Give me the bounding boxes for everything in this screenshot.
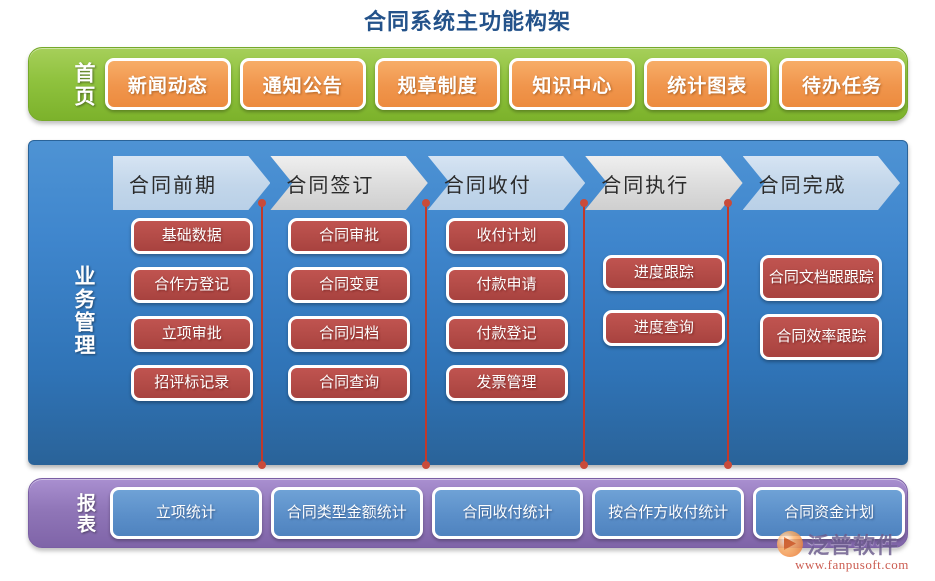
stage-label: 合同完成 <box>759 169 847 198</box>
stage-chevron-signing[interactable]: 合同签订 <box>270 156 427 210</box>
watermark: 泛普软件 www.fanpusoft.com <box>777 529 927 577</box>
report-row-label: 报表 <box>75 488 94 540</box>
module-button-bidding-record[interactable]: 招评标记录 <box>131 365 253 401</box>
home-button-knowledge[interactable]: 知识中心 <box>509 58 635 110</box>
module-button-invoice-management[interactable]: 发票管理 <box>446 365 568 401</box>
watermark-url: www.fanpusoft.com <box>777 557 927 573</box>
stage-label: 合同签订 <box>286 169 374 198</box>
module-button-basic-data[interactable]: 基础数据 <box>131 218 253 254</box>
module-column-completion: 合同文档跟跟踪 合同效率跟踪 <box>743 218 900 448</box>
stage-label: 合同前期 <box>129 169 217 198</box>
module-button-contract-archive[interactable]: 合同归档 <box>288 316 410 352</box>
report-button-contract-type-amount[interactable]: 合同类型金额统计 <box>271 487 423 539</box>
module-column-payment: 收付计划 付款申请 付款登记 发票管理 <box>428 218 585 448</box>
diagram-canvas: 合同系统主功能构架 首页 新闻动态 通知公告 规章制度 知识中心 统计图表 待办… <box>0 0 935 581</box>
module-button-partner-registration[interactable]: 合作方登记 <box>131 267 253 303</box>
home-row-buttons: 新闻动态 通知公告 规章制度 知识中心 统计图表 待办任务 <box>105 58 905 110</box>
module-button-efficiency-tracking[interactable]: 合同效率跟踪 <box>760 314 882 360</box>
report-button-contract-payment-statistics[interactable]: 合同收付统计 <box>432 487 584 539</box>
connector-dot <box>724 461 732 469</box>
module-column-execution: 进度跟踪 进度查询 <box>585 218 742 448</box>
module-button-progress-query[interactable]: 进度查询 <box>603 310 725 346</box>
report-button-partner-payment-statistics[interactable]: 按合作方收付统计 <box>592 487 744 539</box>
watermark-brand-row: 泛普软件 <box>777 529 927 559</box>
connector-dot <box>422 199 430 207</box>
stage-label: 合同执行 <box>601 169 689 198</box>
home-button-news[interactable]: 新闻动态 <box>105 58 231 110</box>
stage-chevron-execution[interactable]: 合同执行 <box>585 156 742 210</box>
module-button-payment-request[interactable]: 付款申请 <box>446 267 568 303</box>
module-button-contract-change[interactable]: 合同变更 <box>288 267 410 303</box>
module-button-document-tracking[interactable]: 合同文档跟跟踪 <box>760 255 882 301</box>
module-button-contract-approval[interactable]: 合同审批 <box>288 218 410 254</box>
module-column-signing: 合同审批 合同变更 合同归档 合同查询 <box>270 218 427 448</box>
report-button-project-statistics[interactable]: 立项统计 <box>110 487 262 539</box>
connector-dot <box>258 199 266 207</box>
module-column-pre-contract: 基础数据 合作方登记 立项审批 招评标记录 <box>113 218 270 448</box>
module-button-contract-query[interactable]: 合同查询 <box>288 365 410 401</box>
connector-dot <box>258 461 266 469</box>
home-button-rules[interactable]: 规章制度 <box>375 58 501 110</box>
stage-chevron-pre-contract[interactable]: 合同前期 <box>113 156 270 210</box>
module-button-project-approval[interactable]: 立项审批 <box>131 316 253 352</box>
stage-chevron-completion[interactable]: 合同完成 <box>743 156 900 210</box>
home-button-charts[interactable]: 统计图表 <box>644 58 770 110</box>
module-button-payment-plan[interactable]: 收付计划 <box>446 218 568 254</box>
connector-dot <box>580 199 588 207</box>
home-button-todo[interactable]: 待办任务 <box>779 58 905 110</box>
connector-dot <box>422 461 430 469</box>
business-section-label: 业务管理 <box>73 246 94 376</box>
watermark-brand: 泛普软件 <box>807 528 899 560</box>
module-button-payment-registration[interactable]: 付款登记 <box>446 316 568 352</box>
connector-dot <box>580 461 588 469</box>
fanpu-logo-icon <box>777 531 803 557</box>
page-title: 合同系统主功能构架 <box>0 4 935 36</box>
stage-chevron-payment[interactable]: 合同收付 <box>428 156 585 210</box>
module-button-progress-tracking[interactable]: 进度跟踪 <box>603 255 725 291</box>
connector-dot <box>724 199 732 207</box>
home-row-label: 首页 <box>73 57 94 113</box>
home-button-notice[interactable]: 通知公告 <box>240 58 366 110</box>
module-columns: 基础数据 合作方登记 立项审批 招评标记录 合同审批 合同变更 合同归档 合同查… <box>113 218 900 448</box>
process-stage-band: 合同前期 合同签订 合同收付 合同执行 合同完成 <box>113 156 900 210</box>
stage-label: 合同收付 <box>444 169 532 198</box>
